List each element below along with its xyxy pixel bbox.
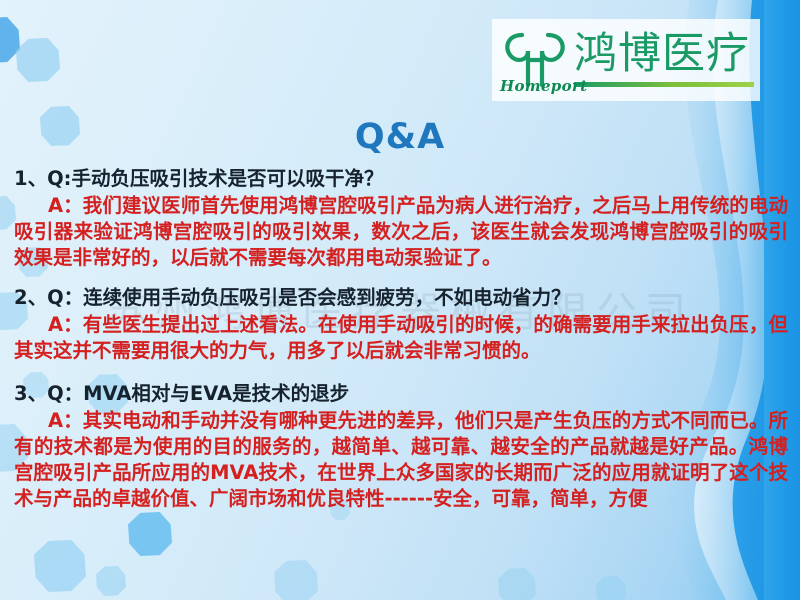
qa-item: 2、Q：连续使用手动负压吸引是否会感到疲劳，不如电动省力？ A：有些医生提出过上… <box>14 285 788 364</box>
answer-line: A：其实电动和手动并没有哪种更先进的差异，他们只是产生负压的方式不同而已。所有的… <box>14 408 788 512</box>
question-label: Q： <box>47 382 83 405</box>
question-line: 2、Q：连续使用手动负压吸引是否会感到疲劳，不如电动省力？ <box>14 285 788 312</box>
logo-underline-rule <box>574 82 754 87</box>
question-line: 3、Q：MVA相对与EVA是技术的退步 <box>14 381 788 408</box>
answer-text: 我们建议医师首先使用鸿博宫腔吸引产品为病人进行治疗，之后马上用传统的电动吸引器来… <box>14 194 788 269</box>
answer-label: A： <box>48 409 83 432</box>
slide-canvas: 苏州鸿博医疗器械有限公司 Homeport 鸿博医疗 Q&A 1、Q:手动负压吸… <box>0 0 800 600</box>
answer-label: A： <box>48 194 83 217</box>
answer-text: 有些医生提出过上述看法。在使用手动吸引的时候，的确需要用手来拉出负压，但其实这并… <box>14 313 788 362</box>
decorative-bubble <box>0 17 20 63</box>
decorative-bubble <box>498 568 536 600</box>
answer-text: 其实电动和手动并没有哪种更先进的差异，他们只是产生负压的方式不同而已。所有的技术… <box>14 409 788 510</box>
question-label: Q： <box>47 286 83 309</box>
question-line: 1、Q:手动负压吸引技术是否可以吸干净？ <box>14 166 788 193</box>
question-text: 手动负压吸引技术是否可以吸干净？ <box>71 167 383 190</box>
logo-chinese-name: 鸿博医疗 <box>574 33 754 76</box>
answer-line: A：我们建议医师首先使用鸿博宫腔吸引产品为病人进行治疗，之后马上用传统的电动吸引… <box>14 193 788 271</box>
homeport-monogram-icon: Homeport <box>498 23 572 97</box>
logo-text-group: 鸿博医疗 <box>572 33 754 87</box>
qa-content: 1、Q:手动负压吸引技术是否可以吸干净？ A：我们建议医师首先使用鸿博宫腔吸引产… <box>14 166 788 526</box>
decorative-bubble <box>96 566 126 596</box>
question-text: MVA相对与EVA是技术的退步 <box>83 382 349 405</box>
answer-label: A： <box>48 313 83 336</box>
qa-item: 3、Q：MVA相对与EVA是技术的退步 A：其实电动和手动并没有哪种更先进的差异… <box>14 381 788 512</box>
question-label: Q: <box>47 167 71 190</box>
question-number: 1、 <box>14 167 47 190</box>
decorative-bubble <box>274 560 318 600</box>
decorative-bubble <box>16 38 60 82</box>
question-number: 2、 <box>14 286 47 309</box>
decorative-bubble <box>34 540 86 592</box>
answer-line: A：有些医生提出过上述看法。在使用手动吸引的时候，的确需要用手来拉出负压，但其实… <box>14 312 788 364</box>
qa-item: 1、Q:手动负压吸引技术是否可以吸干净？ A：我们建议医师首先使用鸿博宫腔吸引产… <box>14 166 788 271</box>
company-logo: Homeport 鸿博医疗 <box>492 19 760 101</box>
logo-english-name: Homeport <box>500 77 587 95</box>
question-number: 3、 <box>14 382 47 405</box>
slide-title: Q&A <box>0 117 800 157</box>
question-text: 连续使用手动负压吸引是否会感到疲劳，不如电动省力？ <box>83 286 571 309</box>
